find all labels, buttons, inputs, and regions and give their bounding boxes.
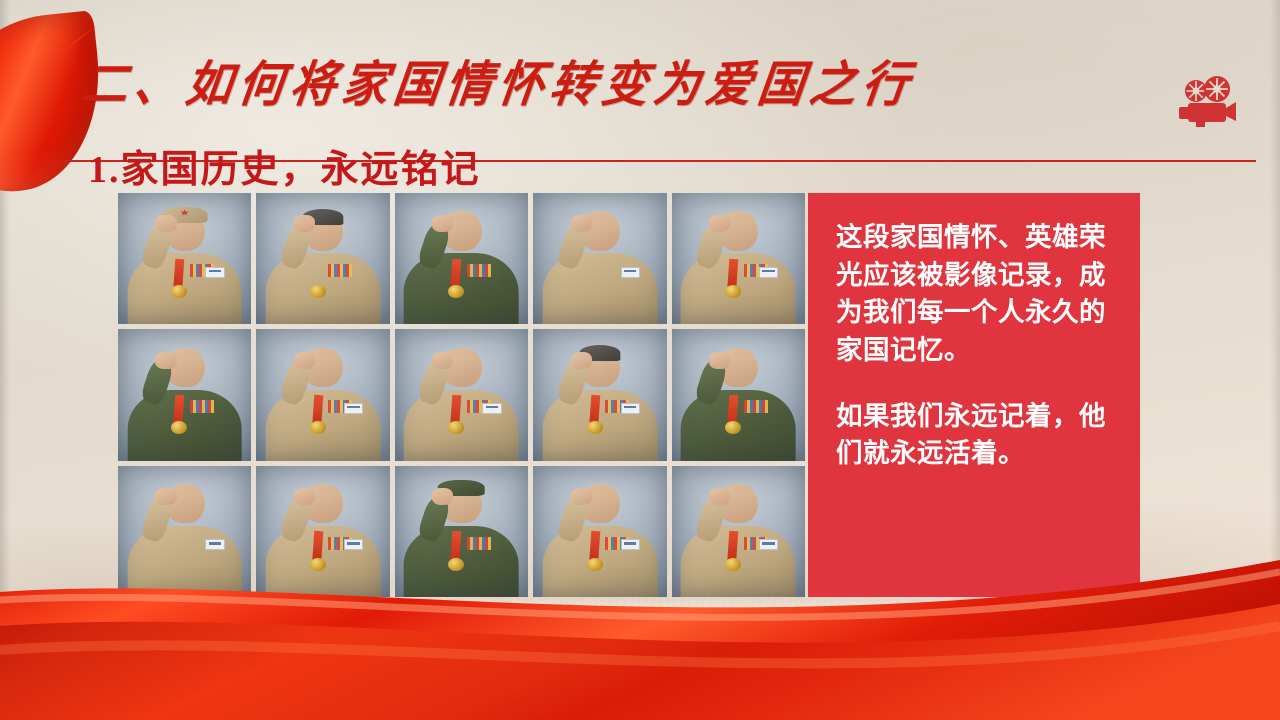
photo-vignette [672, 329, 805, 460]
quote-paragraph-2: 如果我们永远记着，他们就永远活着。 [836, 398, 1118, 473]
slide-canvas: 二、如何将家国情怀转变为爱国之行 1.家国历史，永远铭记 这段家国情怀、英雄荣光… [0, 0, 1280, 720]
slide-header: 二、如何将家国情怀转变为爱国之行 [0, 28, 1280, 136]
photo-vignette [118, 329, 251, 460]
veteran-photo [118, 329, 251, 460]
photo-vignette [533, 329, 666, 460]
photo-vignette [533, 193, 666, 324]
veteran-photo [533, 329, 666, 460]
veteran-photo [672, 329, 805, 460]
photo-vignette [395, 193, 528, 324]
veteran-photo [395, 329, 528, 460]
veteran-photo [118, 193, 251, 324]
veteran-photo [256, 329, 389, 460]
quote-paragraph-1: 这段家国情怀、英雄荣光应该被影像记录，成为我们每一个人永久的家国记忆。 [836, 219, 1118, 370]
ribbon-bottom-icon [0, 530, 1280, 720]
veteran-photo [256, 193, 389, 324]
page-title: 二、如何将家国情怀转变为爱国之行 [79, 61, 917, 110]
photo-vignette [256, 329, 389, 460]
photo-vignette [118, 193, 251, 324]
photo-vignette [256, 193, 389, 324]
veteran-photo [395, 193, 528, 324]
photo-vignette [672, 193, 805, 324]
veteran-photo [533, 193, 666, 324]
photo-vignette [395, 329, 528, 460]
quote-text: 这段家国情怀、英雄荣光应该被影像记录，成为我们每一个人永久的家国记忆。 如果我们… [836, 219, 1118, 473]
section-subtitle: 1.家国历史，永远铭记 [88, 138, 481, 193]
veteran-photo [672, 193, 805, 324]
movie-camera-icon [1176, 76, 1238, 133]
